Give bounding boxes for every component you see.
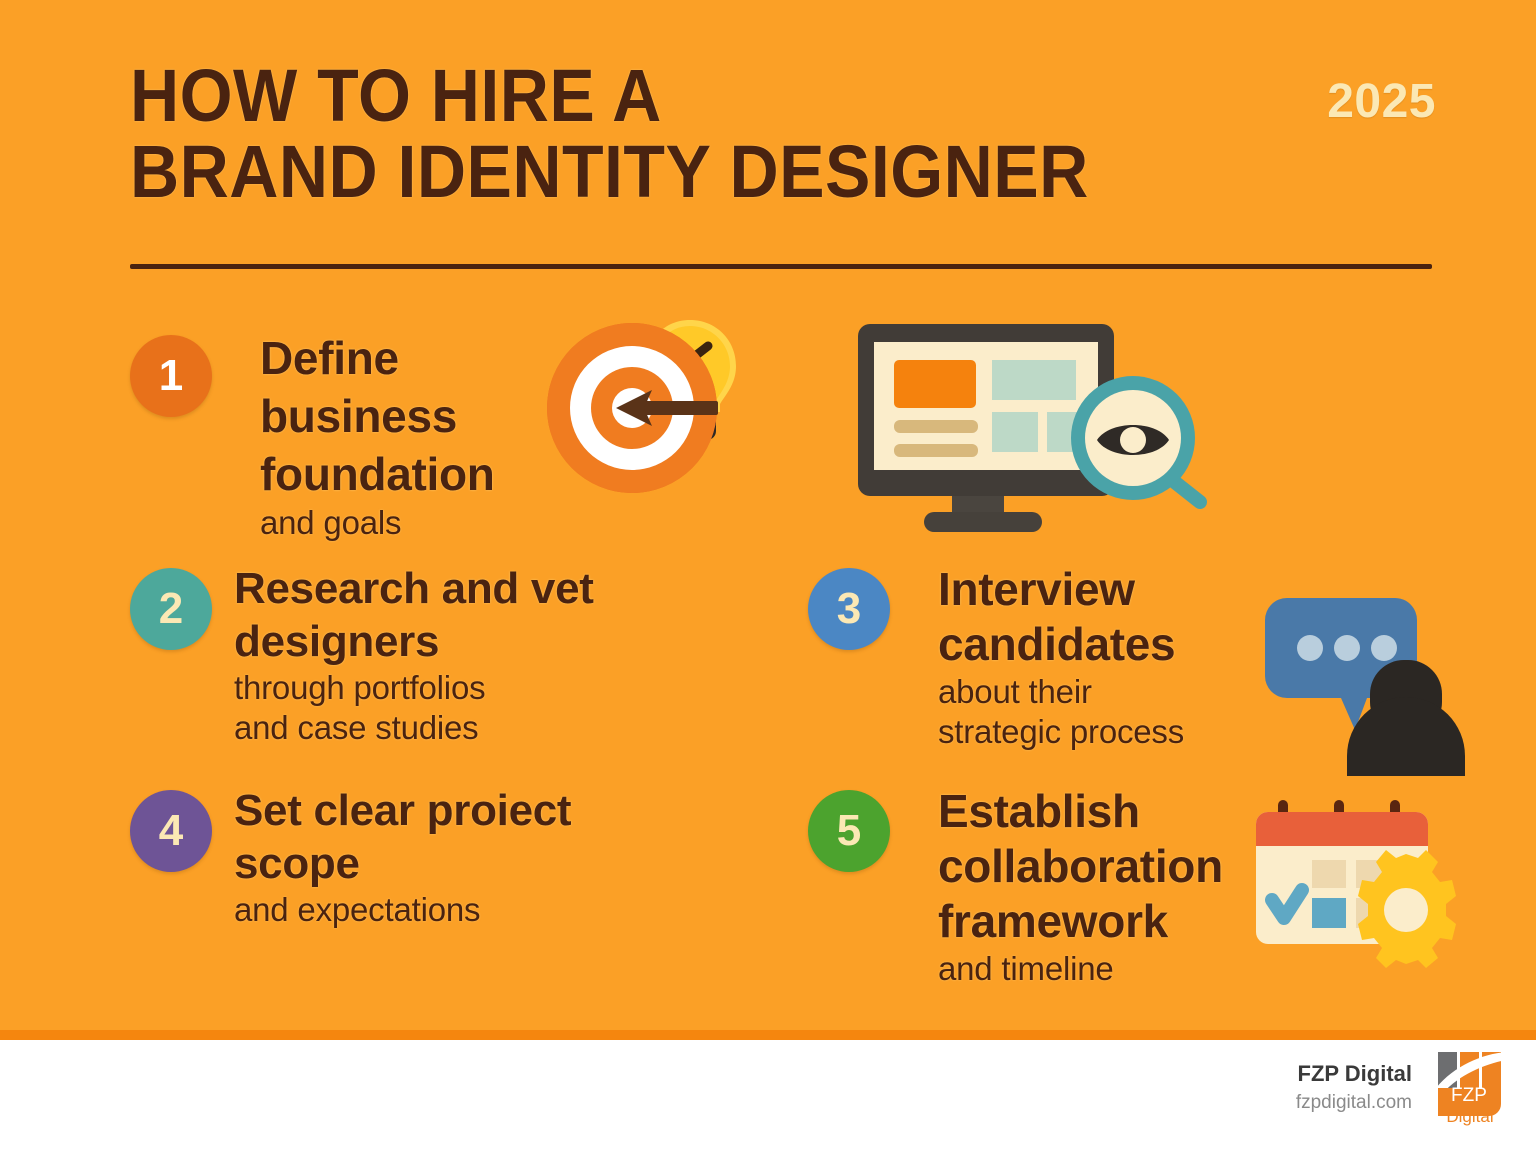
step-number-5: 5 xyxy=(837,806,861,856)
step-subtext-2-line-1: through portfolios xyxy=(234,668,704,708)
step-heading-text-2: Research and vet designers xyxy=(234,564,594,666)
step-number-2: 2 xyxy=(159,584,183,634)
footer-branding: FZP Digital fzpdigital.com FZP Digital xyxy=(1296,1048,1508,1128)
step-number-badge-2: 2 xyxy=(130,568,212,650)
step-subtext-3-line-2: strategic process xyxy=(938,712,1248,752)
brand-name: FZP Digital xyxy=(1296,1059,1412,1089)
footer-divider-stripe xyxy=(0,1030,1536,1040)
calendar-gear-icon xyxy=(1238,798,1464,970)
step-number-4: 4 xyxy=(159,806,183,856)
step-heading-text-1: Define business foundation xyxy=(260,332,495,500)
step-heading-4: Set clear proiect scope xyxy=(234,784,684,890)
fzp-digital-logo: FZP Digital xyxy=(1434,1048,1508,1128)
step-number-3: 3 xyxy=(837,584,861,634)
step-subtext-1: and goals xyxy=(260,503,560,543)
step-heading-3: Interview candidates xyxy=(938,562,1248,672)
step-heading-2: Research and vet designers xyxy=(234,562,704,668)
step-subtext-3-line-1: about their xyxy=(938,672,1248,712)
step-number-1: 1 xyxy=(159,351,183,401)
step-number-badge-4: 4 xyxy=(130,790,212,872)
step-heading-text-4: Set clear proiect scope xyxy=(234,786,571,888)
target-arrow-lightbulb-icon xyxy=(540,312,770,512)
logo-text-digital: Digital xyxy=(1446,1107,1493,1126)
step-text-3: Interview candidates about their strateg… xyxy=(938,562,1248,752)
step-subtext-5: and timeline xyxy=(938,949,1258,989)
step-subtext-4: and expectations xyxy=(234,890,684,930)
step-number-badge-1: 1 xyxy=(130,335,212,417)
step-heading-text-5: Establish collaboration framework xyxy=(938,785,1223,947)
monitor-magnifier-eye-icon xyxy=(852,320,1224,536)
logo-text-fzp: FZP xyxy=(1451,1085,1487,1106)
step-number-badge-5: 5 xyxy=(808,790,890,872)
speech-bubble-person-icon xyxy=(1255,588,1467,776)
step-text-4: Set clear proiect scope and expectations xyxy=(234,784,684,930)
footer-text-group: FZP Digital fzpdigital.com xyxy=(1296,1059,1412,1117)
brand-url[interactable]: fzpdigital.com xyxy=(1296,1089,1412,1117)
step-number-badge-3: 3 xyxy=(808,568,890,650)
infographic-poster: HOW TO HIRE A BRAND IDENTITY DESIGNER 20… xyxy=(0,0,1536,1154)
step-subtext-2-line-2: and case studies xyxy=(234,708,704,748)
step-text-1: Define business foundation and goals xyxy=(260,329,560,543)
step-heading-text-3: Interview candidates xyxy=(938,563,1175,670)
step-text-2: Research and vet designers through portf… xyxy=(234,562,704,748)
step-heading-5: Establish collaboration framework xyxy=(938,784,1258,949)
step-text-5: Establish collaboration framework and ti… xyxy=(938,784,1258,989)
step-heading-1: Define business foundation xyxy=(260,329,560,503)
